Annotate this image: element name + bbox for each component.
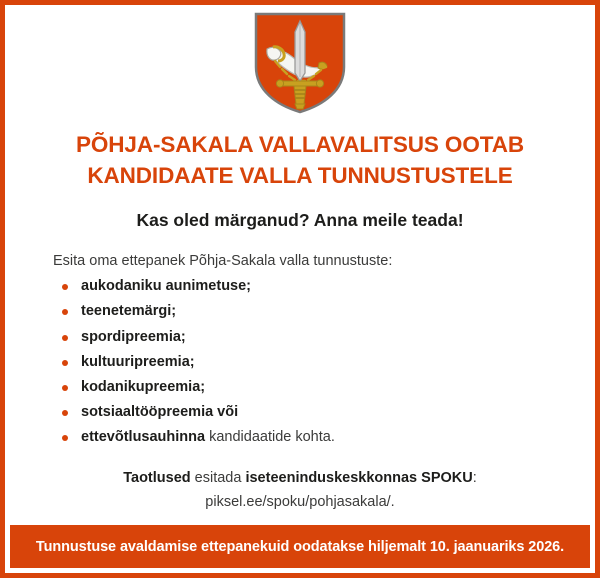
award-suffix: kandidaatide kohta. (205, 429, 335, 445)
awards-list: aukodaniku aunimetuse; teenetemärgi; spo… (5, 278, 595, 446)
award-label: spordipreemia; (81, 329, 186, 345)
list-item: aukodaniku aunimetuse; (61, 278, 595, 295)
title-line-1: PÕHJA-SAKALA VALLAVALITSUS OOTAB (5, 130, 595, 161)
apply-bold-1: Taotlused (123, 470, 190, 486)
poster-inner: PÕHJA-SAKALA VALLAVALITSUS OOTAB KANDIDA… (5, 5, 595, 573)
pohja-sakala-coat-of-arms-icon (253, 11, 347, 115)
crest-container (5, 5, 595, 115)
award-label: sotsiaaltööpreemia või (81, 404, 238, 420)
award-label: kultuuripreemia; (81, 354, 195, 370)
list-item: sotsiaaltööpreemia või (61, 404, 595, 421)
award-label: kodanikupreemia; (81, 379, 205, 395)
application-instructions: Taotlused esitada iseteeninduskeskkonnas… (5, 467, 595, 515)
subtitle: Kas oled märganud? Anna meile teada! (5, 210, 595, 231)
apply-tail: : (473, 470, 477, 486)
award-label: ettevõtlusauhinna (81, 429, 205, 445)
spoku-url[interactable]: piksel.ee/spoku/pohjasakala/. (5, 491, 595, 515)
deadline-text: Tunnustuse avaldamise ettepanekuid oodat… (36, 539, 564, 555)
list-item: teenetemärgi; (61, 303, 595, 320)
list-item: spordipreemia; (61, 329, 595, 346)
deadline-banner: Tunnustuse avaldamise ettepanekuid oodat… (10, 525, 590, 568)
list-item: kodanikupreemia; (61, 379, 595, 396)
page-title: PÕHJA-SAKALA VALLAVALITSUS OOTAB KANDIDA… (5, 130, 595, 191)
award-label: teenetemärgi; (81, 303, 176, 319)
list-item: kultuuripreemia; (61, 354, 595, 371)
apply-middle: esitada (191, 470, 246, 486)
list-item: ettevõtlusauhinna kandidaatide kohta. (61, 429, 595, 446)
announcement-poster: PÕHJA-SAKALA VALLAVALITSUS OOTAB KANDIDA… (0, 0, 600, 578)
title-line-2: KANDIDAATE VALLA TUNNUSTUSTELE (5, 161, 595, 192)
award-label: aukodaniku aunimetuse; (81, 278, 251, 294)
intro-text: Esita oma ettepanek Põhja-Sakala valla t… (53, 253, 595, 269)
apply-bold-2: iseteeninduskeskkonnas SPOKU (245, 470, 472, 486)
